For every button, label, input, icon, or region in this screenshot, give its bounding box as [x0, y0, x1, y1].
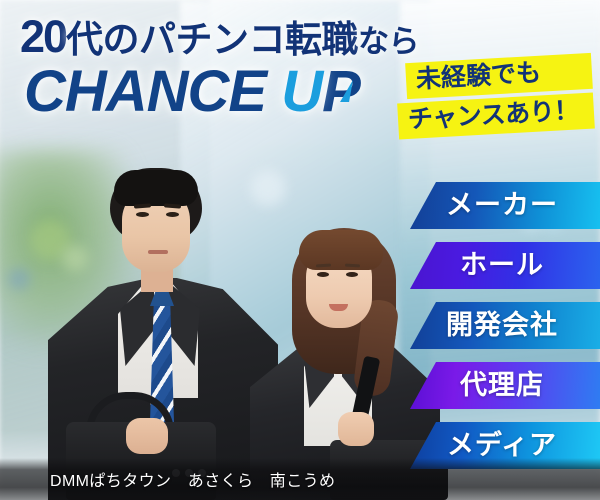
- category-label: ホール: [460, 252, 544, 279]
- headline-line-2: CHANCE UP: [24, 63, 419, 121]
- category-button-maker[interactable]: メーカー: [410, 182, 600, 229]
- headline-group: 20代のパチンコ転職なら CHANCE UP: [20, 14, 419, 121]
- headline-line-1-tail: なら: [358, 24, 419, 59]
- category-button-agency[interactable]: 代理店: [410, 362, 600, 409]
- man-hair-fringe: [114, 170, 198, 206]
- badge-chance-available: チャンスあり！: [397, 93, 595, 140]
- category-label: 開発会社: [446, 312, 558, 339]
- headline-line-1: 20代のパチンコ転職なら: [20, 14, 419, 59]
- credit-strip: DMMぱちタウン あさくら 南こうめ: [0, 458, 600, 500]
- category-button-development-company[interactable]: 開発会社: [410, 302, 600, 349]
- badge-group: 未経験でも チャンスあり！: [398, 58, 594, 134]
- category-label: 代理店: [460, 372, 544, 399]
- man-mouth: [148, 250, 168, 254]
- headline-line-1-main: 代のパチンコ転職: [66, 19, 358, 60]
- man-hand: [126, 418, 168, 454]
- headline-number: 20: [20, 11, 66, 62]
- woman-hand: [338, 412, 374, 446]
- credit-text: DMMぱちタウン あさくら 南こうめ: [50, 467, 335, 491]
- recruitment-banner: 20代のパチンコ転職なら CHANCE UP 未経験でも チャンスあり！ メーカ…: [0, 0, 600, 500]
- headline-up-u: U: [281, 63, 322, 121]
- woman-eye-left: [317, 272, 329, 277]
- category-label: メディア: [447, 432, 557, 459]
- man-eye-right: [166, 212, 179, 217]
- category-button-list: メーカー ホール 開発会社 代理店 メディア: [410, 182, 600, 469]
- badge-inexperienced: 未経験でも: [405, 53, 593, 99]
- man-eye-left: [136, 212, 149, 217]
- woman-eye-right: [346, 272, 358, 277]
- category-label: メーカー: [446, 192, 558, 219]
- headline-chance-word: CHANCE: [24, 59, 281, 124]
- category-button-hall[interactable]: ホール: [410, 242, 600, 289]
- woman-hair-fringe: [299, 230, 383, 270]
